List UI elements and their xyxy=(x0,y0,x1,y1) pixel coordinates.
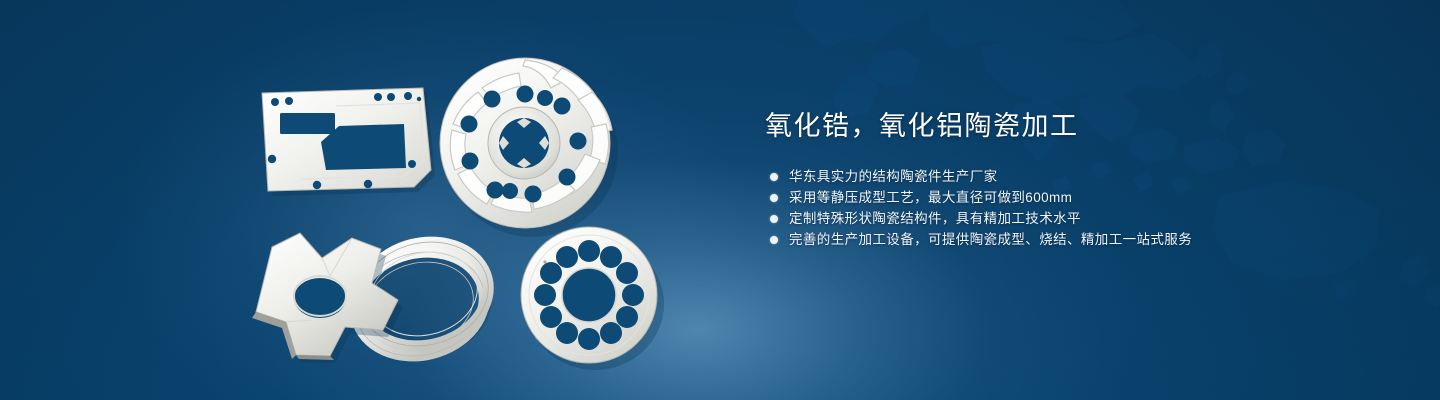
feature-bullet-3-text: 定制特殊形状陶瓷结构件，具有精加工技术水平 xyxy=(789,208,1081,229)
bullet-dot-icon xyxy=(770,194,778,202)
product-image-group xyxy=(0,0,740,400)
banner-headline: 氧化锆，氧化铝陶瓷加工 xyxy=(765,108,1405,144)
bullet-dot-icon xyxy=(770,236,778,244)
ceramic-perforated-disc xyxy=(521,227,664,370)
feature-bullet-4-text: 完善的生产加工设备，可提供陶瓷成型、烧结、精加工一站式服务 xyxy=(789,229,1192,250)
feature-bullet-2-text: 采用等静压成型工艺，最大直径可做到600mm xyxy=(789,187,1072,208)
banner-copy: 氧化锆，氧化铝陶瓷加工 华东具实力的结构陶瓷件生产厂家 采用等静压成型工艺，最大… xyxy=(765,108,1405,250)
ceramic-impeller-disc xyxy=(440,58,618,237)
hero-banner: 氧化锆，氧化铝陶瓷加工 华东具实力的结构陶瓷件生产厂家 采用等静压成型工艺，最大… xyxy=(0,0,1440,400)
bullet-dot-icon xyxy=(770,173,778,181)
feature-bullet-4: 完善的生产加工设备，可提供陶瓷成型、烧结、精加工一站式服务 xyxy=(765,229,1405,250)
feature-bullet-list: 华东具实力的结构陶瓷件生产厂家 采用等静压成型工艺，最大直径可做到600mm 定… xyxy=(765,166,1405,250)
feature-bullet-1-text: 华东具实力的结构陶瓷件生产厂家 xyxy=(789,166,998,187)
feature-bullet-2: 采用等静压成型工艺，最大直径可做到600mm xyxy=(765,187,1405,208)
feature-bullet-3: 定制特殊形状陶瓷结构件，具有精加工技术水平 xyxy=(765,208,1405,229)
feature-bullet-1: 华东具实力的结构陶瓷件生产厂家 xyxy=(765,166,1405,187)
bullet-dot-icon xyxy=(770,215,778,223)
ceramic-flat-plate xyxy=(262,88,435,196)
